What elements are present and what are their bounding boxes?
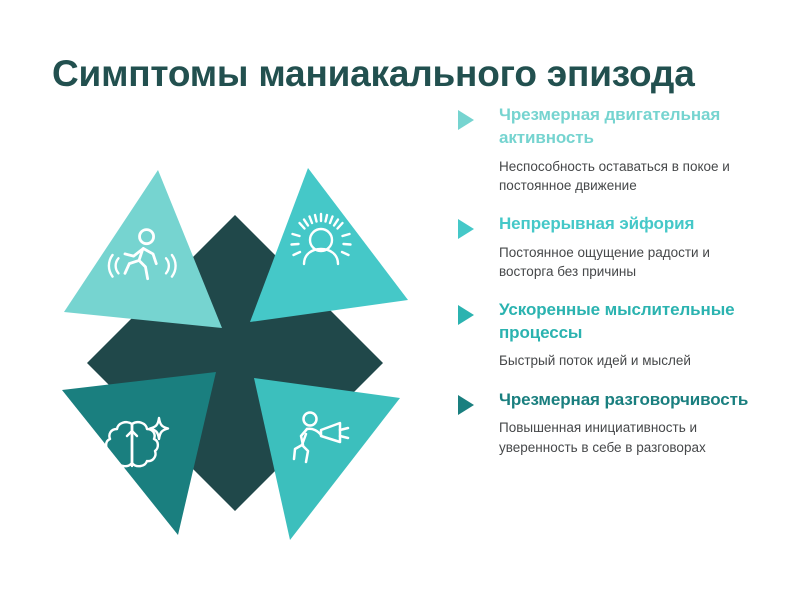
symptom-heading: Чрезмерная двигательная активность [499,104,758,150]
wedge-bottom-left-path [62,372,216,535]
symptom-item-1: Чрезмерная двигательная активность Неспо… [458,104,758,195]
wedge-top-left [64,170,222,328]
symptom-heading: Чрезмерная разговорчивость [499,389,758,412]
symptom-item-3: Ускоренные мыслительные процессы Быстрый… [458,299,758,371]
symptom-item-2: Непрерывная эйфория Постоянное ощущение … [458,213,758,281]
symptom-description: Постоянное ощущение радости и восторга б… [499,243,758,281]
triangle-right-icon [458,305,474,325]
wedge-bottom-right [254,378,400,540]
symptom-heading: Непрерывная эйфория [499,213,758,236]
wedge-top-right-path [250,168,408,322]
symptom-heading: Ускоренные мыслительные процессы [499,299,758,345]
symptom-description: Неспособность оставаться в покое и посто… [499,157,758,195]
symptom-description: Быстрый поток идей и мыслей [499,351,758,370]
symptom-list: Чрезмерная двигательная активность Неспо… [458,104,758,457]
triangle-right-icon [458,395,474,415]
wedge-bottom-right-path [254,378,400,540]
page-title: Симптомы маниакального эпизода [52,53,752,96]
triangle-right-icon [458,219,474,239]
triangle-right-icon [458,110,474,130]
wedge-top-right [250,168,408,322]
symptom-item-4: Чрезмерная разговорчивость Повышенная ин… [458,389,758,457]
symptom-description: Повышенная инициативность и уверенность … [499,418,758,456]
infographic-page: Симптомы маниакального эпизода [0,0,792,610]
symptom-illustration [40,150,430,550]
wedge-bottom-left [62,372,216,535]
